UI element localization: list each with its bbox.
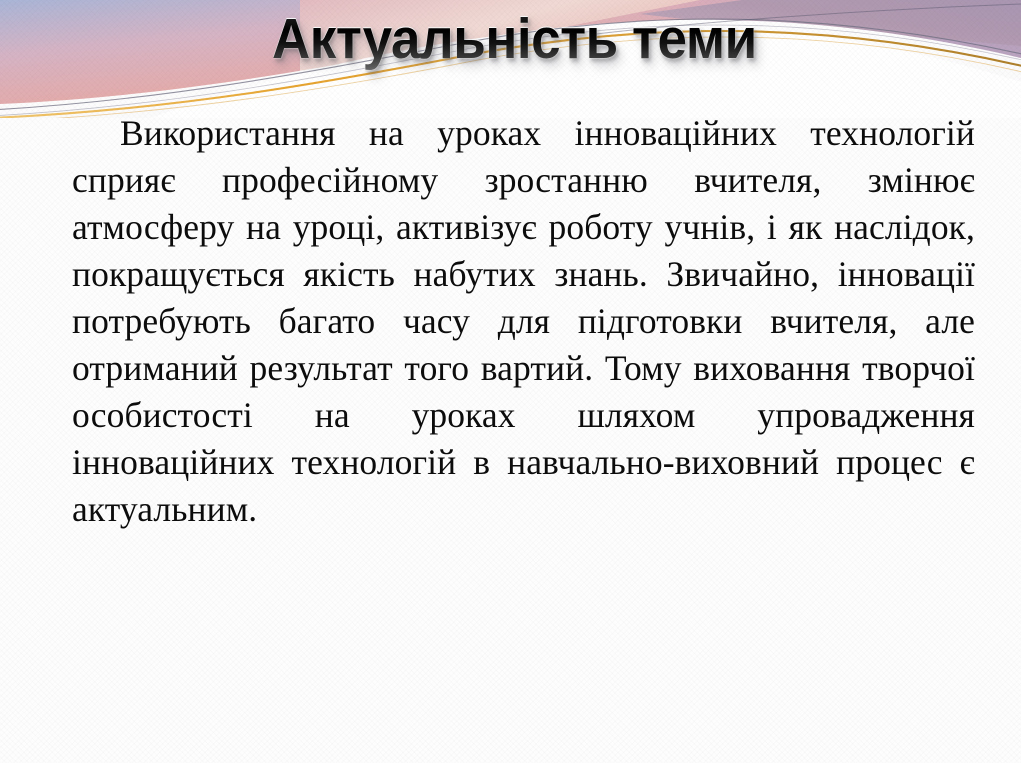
body-text-block: Використання на уроках інноваційних техн… <box>72 110 975 580</box>
body-paragraph: Використання на уроках інноваційних техн… <box>72 110 975 580</box>
header-wave-graphic <box>0 0 1021 118</box>
slide-canvas: Актуальність теми Актуальність теми Вико… <box>0 0 1021 763</box>
header-wave-banner <box>0 0 1021 118</box>
